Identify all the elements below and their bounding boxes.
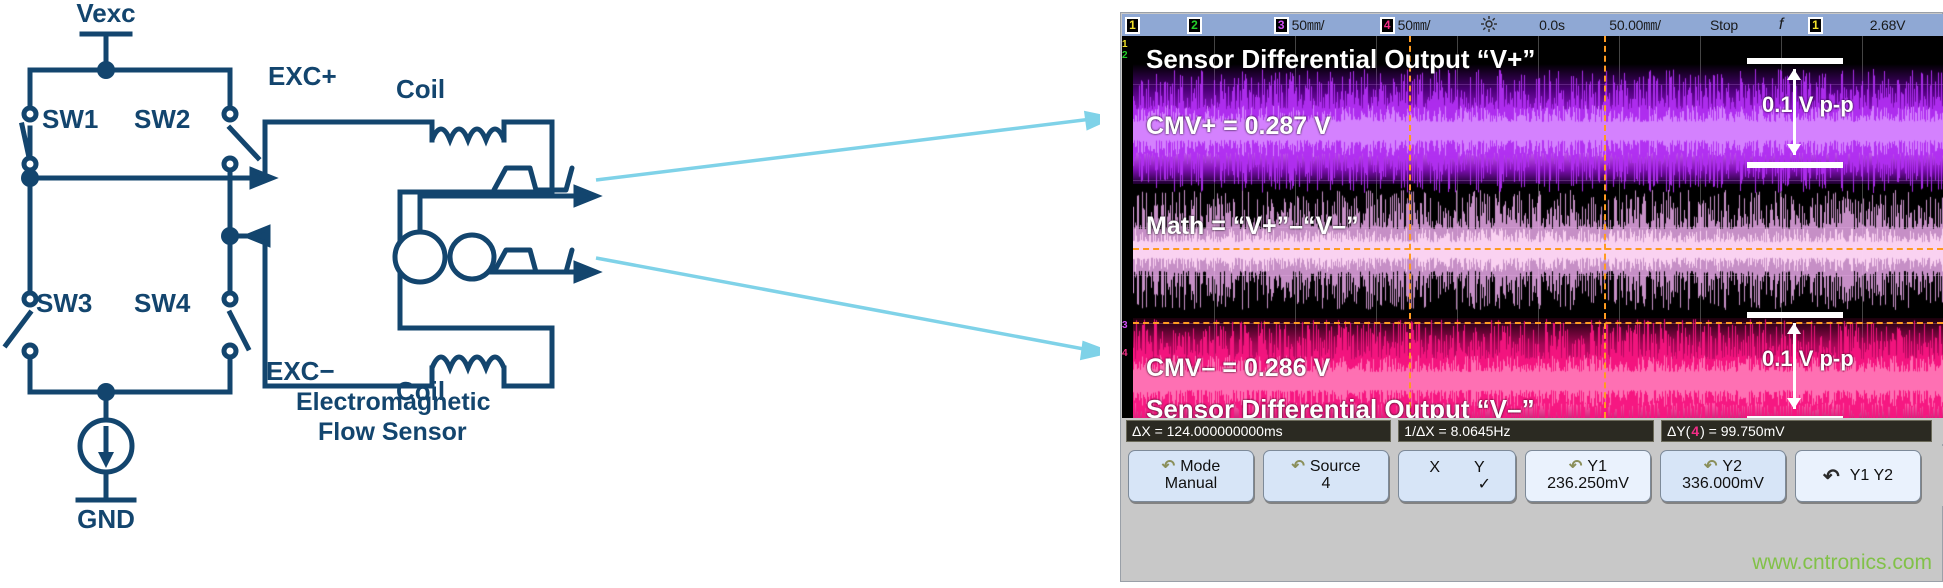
softkey-y1y2-title: Y1 Y2 (1850, 467, 1893, 485)
callout-arrow-top (1086, 113, 1100, 128)
timebase-scale[interactable]: 50.00㎜/ (1609, 15, 1661, 35)
gnd-label: GND (77, 504, 135, 534)
label-sensor-output-vminus: Sensor Differential Output “V–” (1146, 394, 1535, 418)
label-cmv-plus: CMV+ = 0.287 V (1146, 112, 1331, 141)
waveform-glyph-vplus (494, 168, 572, 190)
arrow-out-vminus (576, 264, 596, 280)
label-sensor-output-vplus: Sensor Differential Output “V+” (1146, 44, 1535, 75)
sw2-blade (230, 128, 258, 158)
coil-top-label: Coil (396, 74, 445, 104)
knob-icon: ↶ (1823, 464, 1840, 489)
delta-y-channel: 4 (1690, 423, 1700, 439)
callout-line-top (596, 118, 1100, 180)
sw3-label: SW3 (36, 288, 92, 318)
softkey-y2-title: Y2 (1722, 459, 1742, 476)
scope-status-bar: 1 2 3 50㎜/ 4 50㎜/ (1122, 14, 1943, 36)
softkey-y2[interactable]: ↶Y2 336.000mV (1660, 450, 1786, 502)
softkey-y1[interactable]: ↶Y1 236.250mV (1525, 450, 1651, 502)
waveform-glyph-vminus (494, 250, 572, 272)
softkey-source[interactable]: ↶Source 4 (1263, 450, 1389, 502)
knob-icon: ↶ (1704, 459, 1717, 476)
label-cmv-minus: CMV– = 0.286 V (1146, 354, 1330, 383)
cursor-x1[interactable] (1409, 36, 1411, 418)
sw3-terminal-top (24, 293, 36, 305)
sw4-terminal-bottom (224, 345, 236, 357)
exc-plus-label: EXC+ (268, 61, 337, 91)
sw1-label: SW1 (42, 104, 98, 134)
coil-top-winding (432, 129, 504, 140)
run-state[interactable]: Stop (1710, 17, 1738, 33)
edge-marker-ch3: 3 (1122, 320, 1133, 331)
annotation-pp-bottom (1747, 312, 1843, 418)
scope-waveform-area[interactable]: 1 2 3 4 Sensor Differential Output “V+” … (1122, 36, 1943, 418)
knob-icon: ↶ (1162, 459, 1175, 476)
sw1-terminal-bottom (24, 158, 36, 170)
measurement-delta-x: ΔX = 124.000000000ms (1126, 420, 1391, 442)
softkey-xy[interactable]: X Y ✓ (1398, 450, 1516, 502)
channel-4-badge[interactable]: 4 (1380, 17, 1395, 34)
softkey-xy-y: Y (1474, 459, 1485, 477)
circuit-schematic: Vexc GND SW1 SW2 SW3 SW4 EXC+ EXC− Coil … (0, 0, 1100, 588)
arrow-into-excplus (252, 170, 272, 186)
softkey-y1-title: Y1 (1587, 459, 1607, 476)
channel-3-badge[interactable]: 3 (1274, 17, 1289, 34)
knob-icon: ↶ (1291, 459, 1304, 476)
softkey-xy-check: ✓ (1478, 477, 1491, 494)
sw4-label: SW4 (134, 288, 191, 318)
arrow-out-vplus (576, 188, 596, 204)
coil-bottom-winding (432, 357, 504, 368)
sw2-label: SW2 (134, 104, 190, 134)
softkey-source-title: Source (1310, 459, 1361, 476)
softkey-y1-value: 236.250mV (1547, 476, 1629, 493)
delta-y-prefix: ΔY( (1667, 423, 1690, 439)
trigger-edge-icon[interactable]: f (1779, 16, 1783, 34)
channel-4-scale[interactable]: 50㎜/ (1398, 15, 1431, 35)
channel-3-scale[interactable]: 50㎜/ (1292, 15, 1325, 35)
softkey-source-value: 4 (1322, 476, 1331, 493)
knob-icon: ↶ (1569, 459, 1582, 476)
delta-y-suffix: ) = 99.750mV (1700, 423, 1784, 439)
sw1-terminal-top (24, 108, 36, 120)
softkey-xy-x: X (1429, 459, 1440, 477)
annotation-pp-top (1747, 58, 1843, 168)
electrode-left (395, 232, 445, 282)
edge-marker-ch1: 1 (1122, 39, 1133, 50)
channel-2-badge[interactable]: 2 (1187, 17, 1202, 34)
softkey-mode-title: Mode (1180, 459, 1220, 476)
watermark: www.cntronics.com (1752, 551, 1932, 575)
edge-marker-ch4: 4 (1122, 348, 1133, 359)
softkey-y1y2[interactable]: ↶ Y1 Y2 (1795, 450, 1921, 502)
cursor-x2[interactable] (1604, 36, 1606, 418)
callout-line-bottom (596, 258, 1100, 352)
trigger-level[interactable]: 2.68V (1870, 17, 1906, 33)
sw4-blade (230, 313, 248, 348)
horizontal-delay[interactable]: 0.0s (1539, 17, 1565, 33)
sensor-title-line2: Flow Sensor (318, 418, 467, 446)
edge-marker-ch2: 2 (1122, 50, 1133, 61)
softkey-row: ↶Mode Manual ↶Source 4 X Y ✓ ↶Y1 236.250… (1122, 446, 1943, 506)
softkey-mode[interactable]: ↶Mode Manual (1128, 450, 1254, 502)
softkey-y2-value: 336.000mV (1682, 476, 1764, 493)
sw3-blade (6, 313, 30, 345)
sun-icon[interactable] (1479, 15, 1499, 36)
cursor-y1[interactable] (1133, 248, 1943, 250)
vexc-label: Vexc (76, 0, 135, 28)
sw2-terminal-top (224, 108, 236, 120)
electrode-right (450, 235, 494, 279)
exc-minus-label: EXC− (266, 356, 335, 386)
measurement-inv-delta-x: 1/ΔX = 8.0645Hz (1398, 420, 1654, 442)
measurement-delta-y: ΔY(4) = 99.750mV (1661, 420, 1932, 442)
softkey-mode-value: Manual (1165, 476, 1217, 493)
trigger-source-badge[interactable]: 1 (1808, 17, 1823, 34)
sensor-title-line1: Electromagnetic (296, 388, 491, 416)
label-math: Math = “V+”–“V–” (1146, 212, 1359, 241)
current-source-symbol (80, 420, 132, 472)
sw3-terminal-bottom (24, 345, 36, 357)
measurement-strip: ΔX = 124.000000000ms 1/ΔX = 8.0645Hz ΔY(… (1122, 418, 1943, 444)
arrow-into-excminus (248, 228, 268, 244)
sw4-terminal-top (224, 293, 236, 305)
oscilloscope-screenshot: 1 2 3 50㎜/ 4 50㎜/ (1120, 12, 1943, 582)
callout-arrow-bottom (1082, 343, 1100, 358)
scope-left-rail (1122, 36, 1133, 418)
sw2-terminal-bottom (224, 158, 236, 170)
channel-1-badge[interactable]: 1 (1125, 17, 1140, 34)
